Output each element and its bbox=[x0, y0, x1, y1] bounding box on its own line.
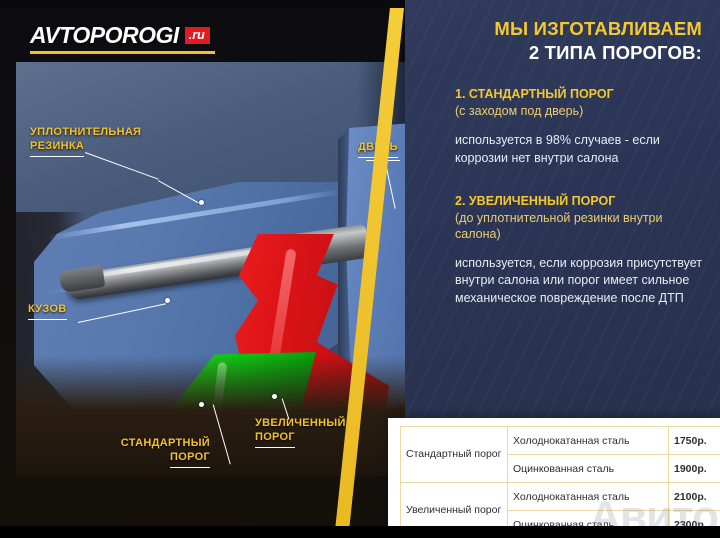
price-value: 1900р. bbox=[669, 455, 720, 483]
price-table: Стандартный порог Холоднокатанная сталь … bbox=[400, 426, 720, 538]
leader-dot-seal bbox=[199, 200, 204, 205]
logo-tld-badge: .ru bbox=[185, 27, 210, 44]
section-1-title: 1. СТАНДАРТНЫЙ ПОРОГ bbox=[455, 87, 706, 101]
section-2-title: 2. УВЕЛИЧЕННЫЙ ПОРОГ bbox=[455, 194, 706, 208]
leader-dot-standard bbox=[199, 402, 204, 407]
callout-standard-line2: ПОРОГ bbox=[170, 451, 210, 468]
price-material: Холоднокатанная сталь bbox=[508, 427, 669, 455]
table-row: Увеличенный порог Холоднокатанная сталь … bbox=[401, 483, 720, 511]
callout-seal-line1: УПЛОТНИТЕЛЬНАЯ bbox=[30, 126, 141, 138]
headline-line1: МЫ ИЗГОТАВЛИВАЕМ bbox=[455, 18, 706, 40]
price-material: Холоднокатанная сталь bbox=[508, 483, 669, 511]
callout-seal-line2: РЕЗИНКА bbox=[30, 140, 84, 157]
leader-dot-extended bbox=[272, 394, 277, 399]
callout-body-label: КУЗОВ bbox=[28, 303, 67, 320]
price-value: 2100р. bbox=[669, 483, 720, 511]
callout-extended-line1: УВЕЛИЧЕННЫЙ bbox=[255, 417, 346, 429]
price-table-card: Стандартный порог Холоднокатанная сталь … bbox=[388, 418, 720, 526]
price-material: Оцинкованная сталь bbox=[508, 455, 669, 483]
price-value: 1750р. bbox=[669, 427, 720, 455]
section-2-body: используется, если коррозия присутствует… bbox=[455, 255, 706, 308]
price-category-standard: Стандартный порог bbox=[401, 427, 508, 483]
callout-seal: УПЛОТНИТЕЛЬНАЯ РЕЗИНКА bbox=[30, 126, 165, 157]
photo-shadow-bottom bbox=[16, 356, 452, 476]
logo-wordmark: AVTOPOROGI bbox=[30, 22, 179, 49]
leader-dot-body bbox=[165, 298, 170, 303]
section-1-body: используется в 98% случаев - если корроз… bbox=[455, 132, 706, 168]
bottom-border-strip bbox=[0, 526, 720, 538]
callout-body: КУЗОВ bbox=[28, 303, 67, 320]
callout-standard-line1: СТАНДАРТНЫЙ bbox=[121, 437, 210, 449]
logo-underline bbox=[30, 51, 215, 54]
callout-extended-line2: ПОРОГ bbox=[255, 431, 295, 448]
callout-standard-sill: СТАНДАРТНЫЙ ПОРОГ bbox=[90, 437, 210, 468]
headline-line2: 2 ТИПА ПОРОГОВ: bbox=[455, 42, 706, 64]
section-2-subtitle: (до уплотнительной резинки внутри салона… bbox=[455, 210, 706, 242]
top-border-strip bbox=[0, 0, 405, 8]
infographic-page: УПЛОТНИТЕЛЬНАЯ РЕЗИНКА КУЗОВ ДВЕРЬ СТАНД… bbox=[0, 0, 720, 538]
table-row: Стандартный порог Холоднокатанная сталь … bbox=[401, 427, 720, 455]
section-1-subtitle: (с заходом под дверь) bbox=[455, 103, 706, 119]
brand-logo: AVTOPOROGI .ru bbox=[30, 22, 215, 54]
